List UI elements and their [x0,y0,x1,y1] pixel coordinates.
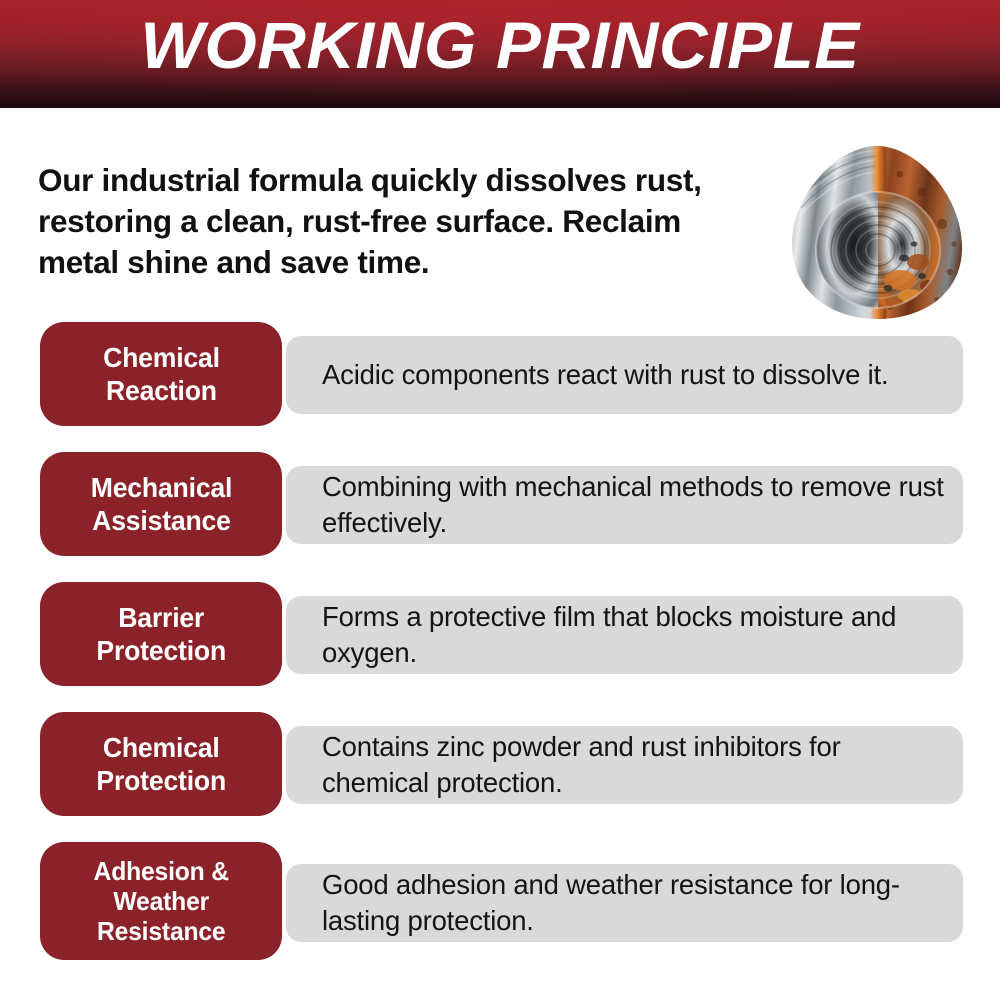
feature-row: Combining with mechanical methods to rem… [0,452,1000,556]
feature-row-list: Acidic components react with rust to dis… [0,322,1000,960]
feature-row: Forms a protective film that blocks mois… [0,582,1000,686]
feature-label-pill[interactable]: Adhesion & Weather Resistance [40,842,282,960]
feature-description-text: Contains zinc powder and rust inhibitors… [322,729,945,801]
feature-label-text: Adhesion & Weather Resistance [93,856,228,946]
feature-description-panel: Forms a protective film that blocks mois… [286,596,963,674]
feature-description-text: Acidic components react with rust to dis… [322,357,888,393]
feature-label-pill[interactable]: Chemical Protection [40,712,282,816]
pipe-cutaway-image [782,140,972,325]
intro-paragraph: Our industrial formula quickly dissolves… [38,160,768,283]
feature-label-text: Chemical Protection [96,731,226,797]
feature-label-text: Chemical Reaction [103,341,220,407]
feature-label-pill[interactable]: Mechanical Assistance [40,452,282,556]
feature-label-pill[interactable]: Chemical Reaction [40,322,282,426]
feature-description-panel: Good adhesion and weather resistance for… [286,864,963,942]
header-banner: WORKING PRINCIPLE [0,0,1000,108]
feature-label-text: Mechanical Assistance [90,471,232,537]
feature-description-text: Forms a protective film that blocks mois… [322,599,945,671]
feature-description-panel: Contains zinc powder and rust inhibitors… [286,726,963,804]
feature-label-text: Barrier Protection [96,601,226,667]
feature-label-pill[interactable]: Barrier Protection [40,582,282,686]
feature-row: Acidic components react with rust to dis… [0,322,1000,426]
page-title: WORKING PRINCIPLE [0,12,1000,78]
feature-row: Good adhesion and weather resistance for… [0,842,1000,960]
pipe-cutaway-svg [782,140,972,325]
pipe-inner-bore [816,192,940,308]
feature-row: Contains zinc powder and rust inhibitors… [0,712,1000,816]
feature-description-panel: Acidic components react with rust to dis… [286,336,963,414]
feature-description-text: Combining with mechanical methods to rem… [322,469,945,541]
feature-description-panel: Combining with mechanical methods to rem… [286,466,963,544]
feature-description-text: Good adhesion and weather resistance for… [322,867,945,939]
